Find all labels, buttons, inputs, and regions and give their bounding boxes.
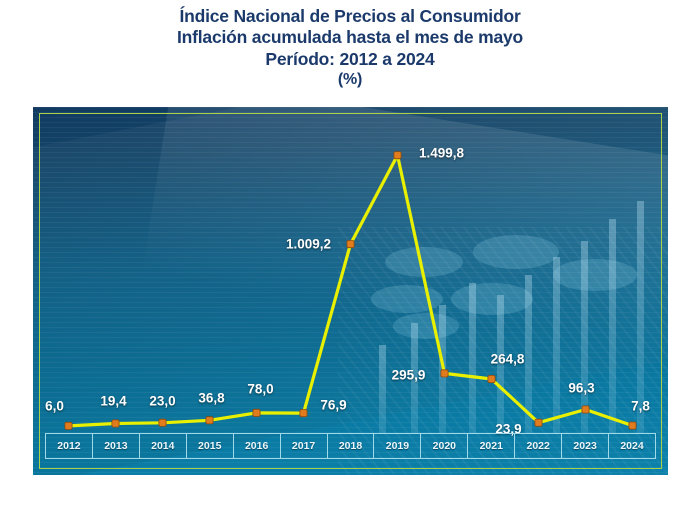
series-marker [65, 422, 72, 429]
chart-panel: 6,019,423,036,878,076,91.009,21.499,8295… [33, 107, 668, 475]
series-marker [535, 419, 542, 426]
year-axis-cell: 2020 [421, 434, 468, 458]
year-axis-cell: 2023 [562, 434, 609, 458]
data-label: 96,3 [568, 380, 594, 395]
year-axis-cell: 2021 [468, 434, 515, 458]
data-label: 264,8 [491, 352, 525, 367]
year-axis-cell: 2019 [374, 434, 421, 458]
series-marker [347, 241, 354, 248]
series-marker [253, 409, 260, 416]
series-marker [159, 419, 166, 426]
series-marker [394, 152, 401, 159]
year-axis-cell: 2012 [46, 434, 93, 458]
year-axis-cell: 2024 [609, 434, 655, 458]
line-chart-plot [33, 107, 668, 475]
series-marker [582, 406, 589, 413]
title-line-1: Índice Nacional de Precios al Consumidor [0, 6, 700, 27]
year-axis-cell: 2022 [515, 434, 562, 458]
data-label: 6,0 [45, 398, 64, 413]
year-axis-cell: 2016 [234, 434, 281, 458]
series-marker [629, 422, 636, 429]
year-axis-cell: 2014 [140, 434, 187, 458]
data-label: 295,9 [392, 368, 426, 383]
series-marker-group [65, 152, 636, 430]
series-marker [441, 370, 448, 377]
year-axis-cell: 2017 [281, 434, 328, 458]
data-label: 23,0 [149, 393, 175, 408]
series-marker [206, 417, 213, 424]
year-axis-cell: 2018 [328, 434, 375, 458]
series-line [69, 155, 633, 426]
series-marker [112, 420, 119, 427]
title-unit-percent: (%) [0, 70, 700, 90]
data-label: 7,8 [631, 398, 650, 413]
data-label: 36,8 [198, 391, 224, 406]
year-axis-cell: 2013 [93, 434, 140, 458]
year-axis: 2012201320142015201620172018201920202021… [45, 433, 656, 459]
data-label: 76,9 [320, 398, 346, 413]
page-title: Índice Nacional de Precios al Consumidor… [0, 6, 700, 90]
title-line-2: Inflación acumulada hasta el mes de mayo [0, 27, 700, 48]
title-line-3: Período: 2012 a 2024 [0, 49, 700, 70]
data-label: 78,0 [247, 381, 273, 396]
series-marker [488, 375, 495, 382]
data-label: 19,4 [100, 394, 126, 409]
data-label: 1.499,8 [419, 146, 464, 161]
data-label: 1.009,2 [286, 237, 331, 252]
year-axis-cell: 2015 [187, 434, 234, 458]
series-marker [300, 410, 307, 417]
